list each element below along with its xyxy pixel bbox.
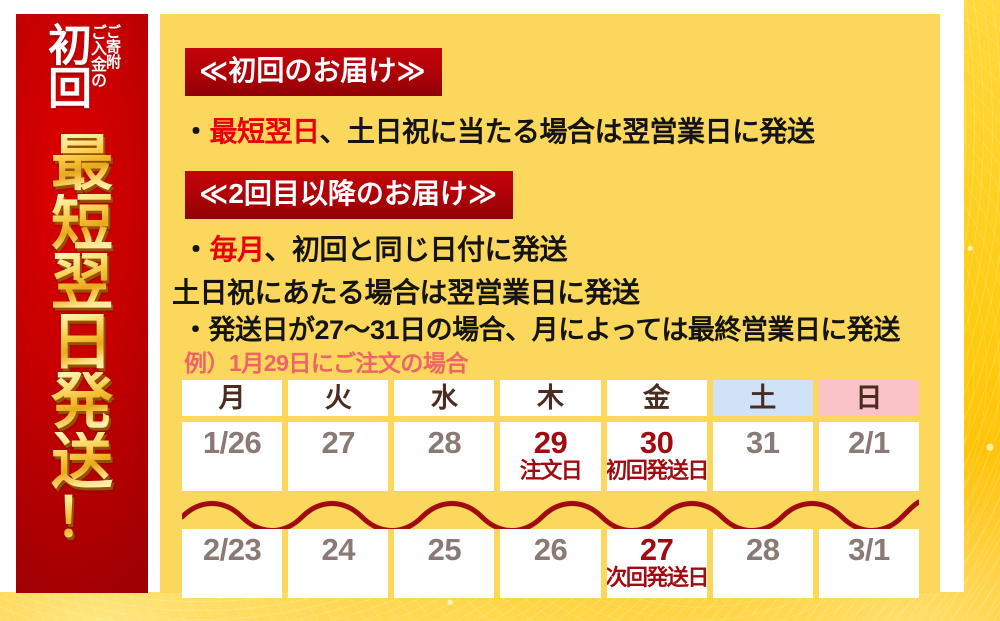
gold-char-0: 最 (51, 134, 113, 194)
calendar-cell: 27 (288, 422, 388, 491)
bullet-marker: ・ (182, 116, 210, 147)
calendar-cell-number: 28 (428, 426, 461, 459)
gold-char-4: 発 (51, 372, 113, 432)
calendar-cell-number: 3/1 (848, 533, 890, 566)
shipping-calendar: 月 火 水 木 金 土 日 1/26 27 28 (182, 380, 919, 598)
calendar-cell: 26 (500, 529, 600, 598)
calendar-cell-note: 注文日 (520, 459, 582, 482)
calendar-header-thu: 木 (500, 380, 600, 416)
highlight-monthly: 毎月 (210, 234, 265, 265)
calendar-cell-number: 24 (321, 533, 354, 566)
example-caption: 例）1月29日にご注文の場合 (184, 352, 468, 375)
highlight-shortest-next-day: 最短翌日 (210, 116, 320, 147)
gold-char-6: ！ (55, 491, 109, 545)
calendar-cell-number: 25 (428, 533, 461, 566)
calendar-cell: 31 (713, 422, 813, 491)
first-delivery-rule-rest: 、土日祝に当たる場合は翌営業日に発送 (320, 116, 815, 147)
left-red-vertical-banner: ご寄附 ご入金の 初回 最 短 翌 日 発 送 ！ (16, 14, 148, 593)
calendar-week-row-1: 1/26 27 28 29 注文日 30 初回発送日 (182, 422, 919, 491)
banner-small-vertical-text-donation: ご寄附 (105, 24, 120, 69)
calendar-cell: 28 (394, 422, 494, 491)
calendar-cell-number: 28 (746, 533, 779, 566)
subsequent-rule-line-3: ・発送日が27〜31日の場合、月によっては最終営業日に発送 (182, 317, 900, 344)
bullet-marker: ・ (182, 234, 210, 265)
calendar-header-row: 月 火 水 木 金 土 日 (182, 380, 919, 416)
gold-char-1: 短 (51, 194, 113, 254)
calendar-cell: 1/26 (182, 422, 282, 491)
calendar-header-wed: 水 (394, 380, 494, 416)
banner-kicker-group: ご寄附 ご入金の 初回 (16, 24, 148, 130)
calendar-cell-number: 29 (534, 426, 567, 459)
calendar-cell-note: 初回発送日 (607, 459, 707, 482)
calendar-cell-number: 2/23 (203, 533, 261, 566)
calendar-cell-number: 27 (321, 426, 354, 459)
calendar-cell-number: 30 (640, 426, 673, 459)
calendar-wavy-divider (182, 491, 919, 529)
promo-banner: ご寄附 ご入金の 初回 最 短 翌 日 発 送 ！ ≪初回のお届け≫ ・最短翌日… (0, 0, 1000, 621)
banner-small-vertical-text-payment: ご入金の (88, 24, 104, 88)
calendar-cell: 2/23 (182, 529, 282, 598)
calendar-header-sun: 日 (819, 380, 919, 416)
calendar-cell-note: 次回発送日 (607, 566, 707, 589)
calendar-header-fri: 金 (607, 380, 707, 416)
calendar-cell-next-ship-day: 27 次回発送日 (607, 529, 707, 598)
calendar-cell-number: 2/1 (848, 426, 890, 459)
section-label-subsequent-delivery: ≪2回目以降のお届け≫ (185, 171, 513, 219)
calendar-cell-number: 27 (640, 533, 673, 566)
calendar-cell: 28 (713, 529, 813, 598)
calendar-header-mon: 月 (182, 380, 282, 416)
content-panel: ≪初回のお届け≫ ・最短翌日、土日祝に当たる場合は翌営業日に発送 ≪2回目以降の… (160, 14, 940, 593)
calendar-week-row-2: 2/23 24 25 26 27 次回発送日 (182, 529, 919, 598)
banner-kicker-first-time: 初回 (44, 22, 87, 108)
calendar-cell: 24 (288, 529, 388, 598)
gold-char-2: 翌 (51, 253, 113, 313)
subsequent-rule-3-rest: 発送日が27〜31日の場合、月によっては最終営業日に発送 (209, 315, 900, 345)
subsequent-rule-line-2: 土日祝にあたる場合は翌営業日に発送 (172, 279, 640, 307)
bullet-marker: ・ (182, 315, 209, 345)
calendar-cell-order-day: 29 注文日 (500, 422, 600, 491)
calendar-cell: 2/1 (819, 422, 919, 491)
subsequent-rule-line-1: ・毎月、初回と同じ日付に発送 (182, 236, 567, 264)
calendar-cell-first-ship-day: 30 初回発送日 (607, 422, 707, 491)
gold-char-5: 送 (51, 432, 113, 492)
calendar-cell: 25 (394, 529, 494, 598)
subsequent-rule-1-rest: 、初回と同じ日付に発送 (265, 234, 568, 265)
gold-char-3: 日 (51, 313, 113, 373)
calendar-cell: 3/1 (819, 529, 919, 598)
calendar-header-tue: 火 (288, 380, 388, 416)
calendar-cell-number: 31 (746, 426, 779, 459)
calendar-header-sat: 土 (713, 380, 813, 416)
calendar-cell-number: 26 (534, 533, 567, 566)
banner-gold-headline: 最 短 翌 日 発 送 ！ (16, 134, 148, 589)
calendar-cell-number: 1/26 (203, 426, 261, 459)
section-label-first-delivery: ≪初回のお届け≫ (185, 48, 442, 96)
first-delivery-rule-line: ・最短翌日、土日祝に当たる場合は翌営業日に発送 (182, 118, 815, 146)
